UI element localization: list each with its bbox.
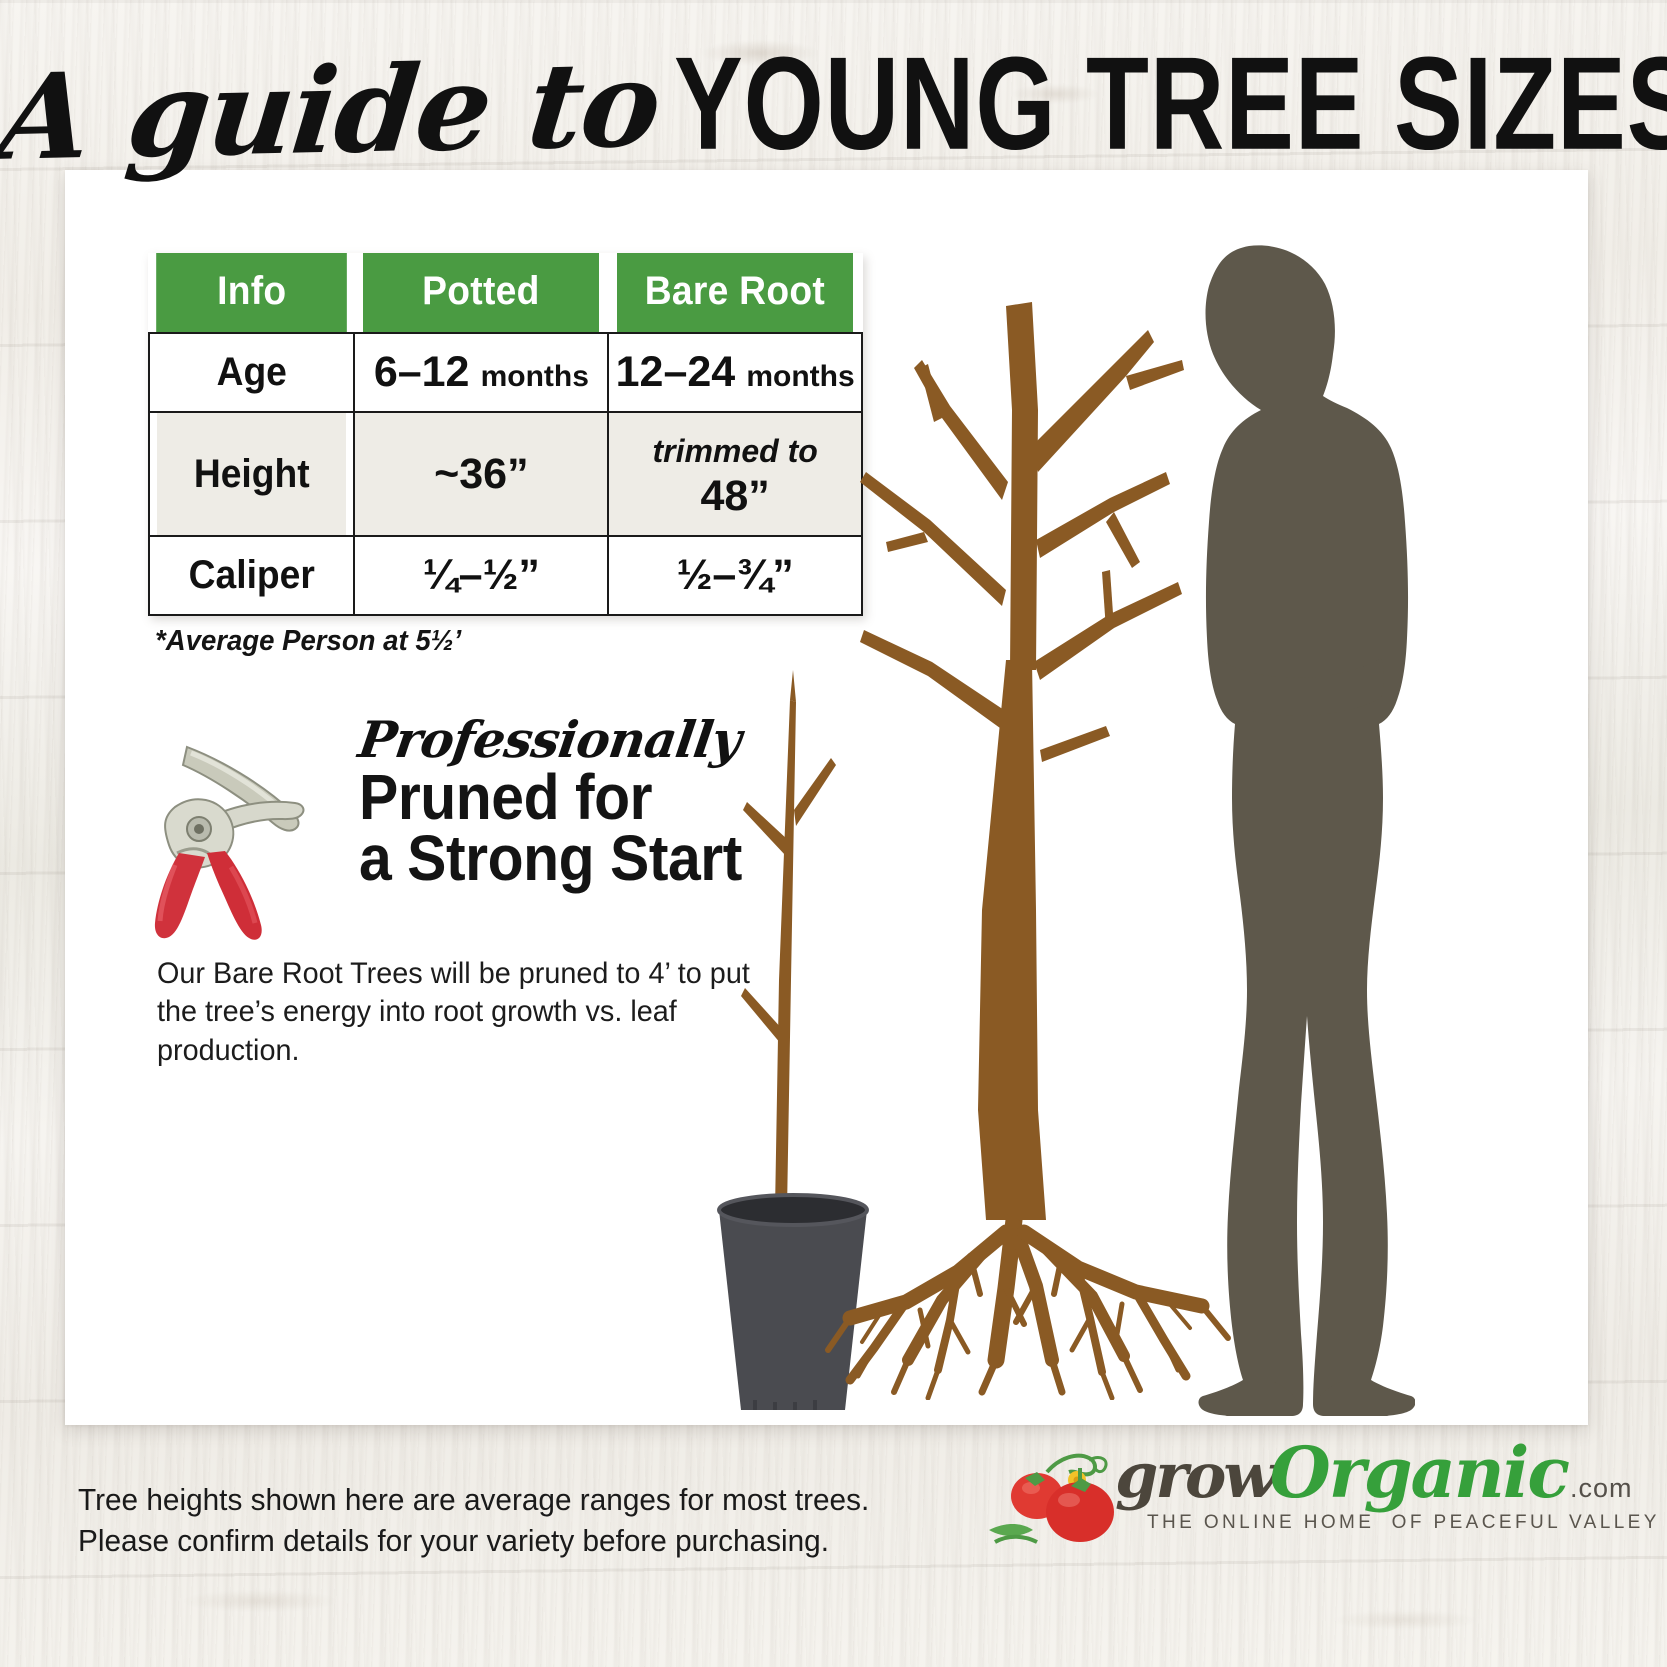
cell-potted-height: ~36” xyxy=(354,412,608,536)
pruned-body-line2: the tree’s energy into root growth vs. l… xyxy=(157,993,752,1070)
tomato-vine-icon xyxy=(985,1438,1135,1558)
footer-disclaimer: Tree heights shown here are average rang… xyxy=(78,1480,869,1562)
page-title-script: A guide to xyxy=(0,45,664,177)
table-header-row: Info Potted Bare Root xyxy=(149,253,862,333)
disclaimer-line1: Tree heights shown here are average rang… xyxy=(78,1480,869,1521)
logo-grow: grow xyxy=(1115,1439,1274,1512)
person-silhouette xyxy=(1075,238,1415,1418)
table-footnote: *Average Person at 5½’ xyxy=(155,625,461,658)
logo-tagline-part2: OF PEACEFUL VALLEY xyxy=(1392,1512,1660,1533)
logo-organic: Organic xyxy=(1270,1431,1568,1514)
pruned-body-text: Our Bare Root Trees will be pruned to 4’… xyxy=(157,955,752,1070)
logo-wordmark: growOrganic.com xyxy=(1115,1438,1633,1508)
pruning-shears-icon xyxy=(149,725,339,945)
grow-organic-logo[interactable]: growOrganic.com THE ONLINE HOME OF PEACE… xyxy=(985,1420,1545,1550)
logo-dotcom: .com xyxy=(1570,1473,1633,1503)
table-row-age: Age 6–12 months 12–24 months xyxy=(149,333,862,412)
disclaimer-line2: Please confirm details for your variety … xyxy=(78,1521,869,1562)
row-label-height: Height xyxy=(156,412,347,536)
page-title: A guide toYOUNG TREE SIZES xyxy=(0,52,1667,170)
logo-tagline-part1: THE ONLINE HOME xyxy=(1147,1512,1374,1533)
cell-potted-age: 6–12 months xyxy=(354,333,608,412)
page-title-block: YOUNG TREE SIZES xyxy=(674,38,1667,170)
table-header-potted: Potted xyxy=(363,253,599,333)
pruned-body-line1: Our Bare Root Trees will be pruned to 4’… xyxy=(157,955,752,993)
content-card: Info Potted Bare Root Age 6–12 months 12… xyxy=(65,170,1588,1425)
logo-tagline: THE ONLINE HOME OF PEACEFUL VALLEY xyxy=(1147,1512,1660,1534)
cell-potted-caliper: ¼–½” xyxy=(354,536,608,615)
row-label-caliper: Caliper xyxy=(156,536,347,615)
row-label-age: Age xyxy=(156,333,347,412)
table-header-info: Info xyxy=(156,253,347,333)
